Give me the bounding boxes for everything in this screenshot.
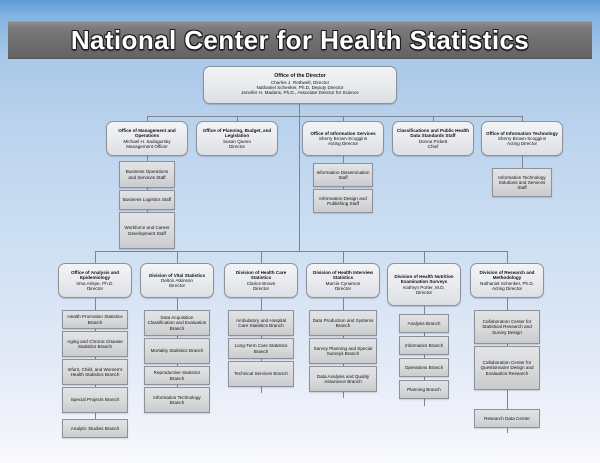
office-heading: Classifications and Public Health Data S…	[396, 128, 470, 138]
division-heading: Division of Health Care Statistics	[228, 270, 294, 280]
connector-director-stem	[299, 104, 300, 116]
connector-drop-division-1	[177, 251, 178, 263]
branch-label: Health Promotion Statistics Branch	[65, 314, 125, 324]
staff-label: Workforce and Career Development Staff	[122, 225, 172, 235]
division-box-health-interview-statistics: Division of Health Interview Statistics …	[306, 263, 380, 298]
branch-label: Aging and Chronic Disease Statistics Bra…	[65, 339, 125, 349]
branch-box-collaboration-center-questionnaire-design: Collaboration Center for Questionnaire D…	[474, 346, 540, 390]
branch-box-technical-services: Technical Services Branch	[228, 361, 294, 387]
staff-box-information-design-publishing: Information Design and Publishing Staff	[313, 189, 373, 213]
branch-box-survey-planning-special-surveys: Survey Planning and Special Surveys Bran…	[309, 338, 377, 364]
branch-box-data-analysis-quality-assurance: Data Analysis and Quality Assurance Bran…	[309, 366, 377, 392]
branch-label: Reproductive Statistics Branch	[147, 370, 207, 380]
branch-box-planning: Planning Branch	[399, 380, 449, 399]
staff-box-business-logistics: Business Logistics Staff	[119, 190, 175, 210]
branch-box-long-term-care: Long-Term Care Statistics Branch	[228, 338, 294, 359]
staff-label: Information Design and Publishing Staff	[316, 196, 370, 206]
branch-box-health-promotion: Health Promotion Statistics Branch	[62, 310, 128, 329]
branch-label: Survey Planning and Special Surveys Bran…	[312, 346, 374, 356]
division-person-title: Director	[169, 283, 185, 288]
branch-box-analytic-studies: Analytic Studies Branch	[62, 419, 128, 438]
office-person-title: Director	[229, 144, 245, 149]
division-heading: Office of Analysis and Epidemiology	[62, 270, 128, 280]
branch-box-infant-child-womens-health: Infant, Child, and Women's Health Statis…	[62, 359, 128, 385]
division-person-title: Director	[416, 290, 432, 295]
division-person-title: Director	[253, 286, 269, 291]
connector-drop-division-0	[95, 251, 96, 263]
branch-box-informatics: Informatics Branch	[399, 336, 449, 355]
staff-label: Information Dissemination Staff	[316, 170, 370, 180]
staff-box-information-dissemination: Information Dissemination Staff	[313, 163, 373, 187]
branch-box-aging-chronic-disease: Aging and Chronic Disease Statistics Bra…	[62, 331, 128, 357]
branch-label: Informatics Branch	[405, 343, 443, 348]
branch-box-mortality-statistics: Mortality Statistics Branch	[144, 338, 210, 364]
staff-box-business-operations: Business Operations and Services Staff	[119, 161, 175, 188]
office-person-title: Chief	[428, 144, 439, 149]
connector-drop-division-4	[424, 251, 425, 263]
division-box-analysis-and-epidemiology: Office of Analysis and Epidemiology Irma…	[58, 263, 132, 298]
division-person-title: Director	[335, 286, 351, 291]
office-heading: Office of Management and Operations	[110, 128, 184, 138]
branch-label: Data Acquisition Classification and Eval…	[147, 315, 207, 330]
connector-office-4-spine	[522, 156, 523, 168]
division-box-vital-statistics: Division of Vital Statistics Delton Atki…	[140, 263, 214, 298]
branch-label: Collaboration Center for Questionnaire D…	[477, 360, 537, 375]
office-of-the-director-box: Office of the Director Charles J. Rothwe…	[203, 66, 397, 104]
branch-box-reproductive-statistics: Reproductive Statistics Branch	[144, 366, 210, 385]
connector-tier2-bus	[147, 116, 522, 117]
office-box-classifications-standards: Classifications and Public Health Data S…	[392, 121, 474, 156]
division-heading: Division of Health Nutrition Examination…	[391, 274, 457, 284]
staff-label: Business Operations and Services Staff	[122, 169, 172, 179]
branch-box-research-data-center: Research Data Center	[474, 409, 540, 428]
office-person-title: Acting Director	[507, 141, 537, 146]
branch-label: Infant, Child, and Women's Health Statis…	[65, 367, 125, 377]
division-heading: Division of Research and Methodology	[474, 270, 540, 280]
branch-label: Operations Branch	[405, 365, 443, 370]
branch-box-analysis: Analysis Branch	[399, 314, 449, 333]
branch-box-information-technology: Information Technology Branch	[144, 387, 210, 413]
staff-box-it-solutions-services: Information Technology Solutions and Ser…	[492, 168, 552, 197]
branch-box-operations: Operations Branch	[399, 358, 449, 377]
staff-box-workforce-development: Workforce and Career Development Staff	[119, 212, 175, 249]
connector-drop-division-2	[261, 251, 262, 263]
office-box-planning-budget-legislation: Office of Planning, Budget, and Legislat…	[196, 121, 278, 156]
division-person-title: Acting Director	[492, 286, 522, 291]
branch-box-data-acquisition-classification: Data Acquisition Classification and Eval…	[144, 310, 210, 336]
division-heading: Division of Health Interview Statistics	[310, 270, 376, 280]
branch-label: Data Production and Systems Branch	[312, 318, 374, 328]
branch-label: Technical Services Branch	[234, 371, 288, 376]
director-line-3: Jennifer H. Madans, Ph.D., Associate Dir…	[241, 90, 359, 95]
connector-drop-division-3	[343, 251, 344, 263]
staff-label: Information Technology Solutions and Ser…	[495, 175, 549, 190]
org-chart-page: National Center for Health Statistics Of…	[0, 0, 600, 463]
connector-drop-division-5	[507, 251, 508, 263]
branch-label: Long-Term Care Statistics Branch	[231, 343, 291, 353]
office-heading: Office of Planning, Budget, and Legislat…	[200, 128, 274, 138]
division-person-title: Director	[87, 286, 103, 291]
branch-label: Analytic Studies Branch	[71, 426, 120, 431]
branch-label: Ambulatory and Hospital Care Statistics …	[231, 318, 291, 328]
branch-box-collaboration-center-statistical-research: Collaboration Center for Statistical Res…	[474, 310, 540, 344]
connector-tier3-bus	[95, 251, 507, 252]
office-box-management-and-operations: Office of Management and Operations Mich…	[106, 121, 188, 156]
staff-label: Business Logistics Staff	[123, 197, 171, 202]
branch-label: Mortality Statistics Branch	[151, 348, 204, 353]
office-person-title: Acting Director	[328, 141, 358, 146]
branch-box-data-production-systems: Data Production and Systems Branch	[309, 310, 377, 336]
title-banner: National Center for Health Statistics	[8, 21, 592, 59]
connector-tier3-stem	[299, 116, 300, 251]
branch-box-special-projects: Special Projects Branch	[62, 387, 128, 413]
branch-label: Collaboration Center for Statistical Res…	[477, 319, 537, 334]
branch-label: Special Projects Branch	[71, 397, 120, 402]
branch-label: Research Data Center	[484, 416, 530, 421]
branch-label: Analysis Branch	[408, 321, 441, 326]
office-box-information-services: Office of Information Services Sherry Br…	[302, 121, 384, 156]
office-box-information-technology: Office of Information Technology Sherry …	[481, 121, 563, 156]
branch-box-ambulatory-hospital-care: Ambulatory and Hospital Care Statistics …	[228, 310, 294, 336]
division-box-health-care-statistics: Division of Health Care Statistics Clari…	[224, 263, 298, 298]
division-box-research-and-methodology: Division of Research and Methodology Nat…	[470, 263, 544, 298]
branch-label: Data Analysis and Quality Assurance Bran…	[312, 374, 374, 384]
division-box-health-nutrition-examination-surveys: Division of Health Nutrition Examination…	[387, 263, 461, 306]
branch-label: Information Technology Branch	[147, 395, 207, 405]
branch-label: Planning Branch	[407, 387, 441, 392]
page-title: National Center for Health Statistics	[71, 25, 529, 56]
office-person-title: Management Officer	[126, 144, 168, 149]
